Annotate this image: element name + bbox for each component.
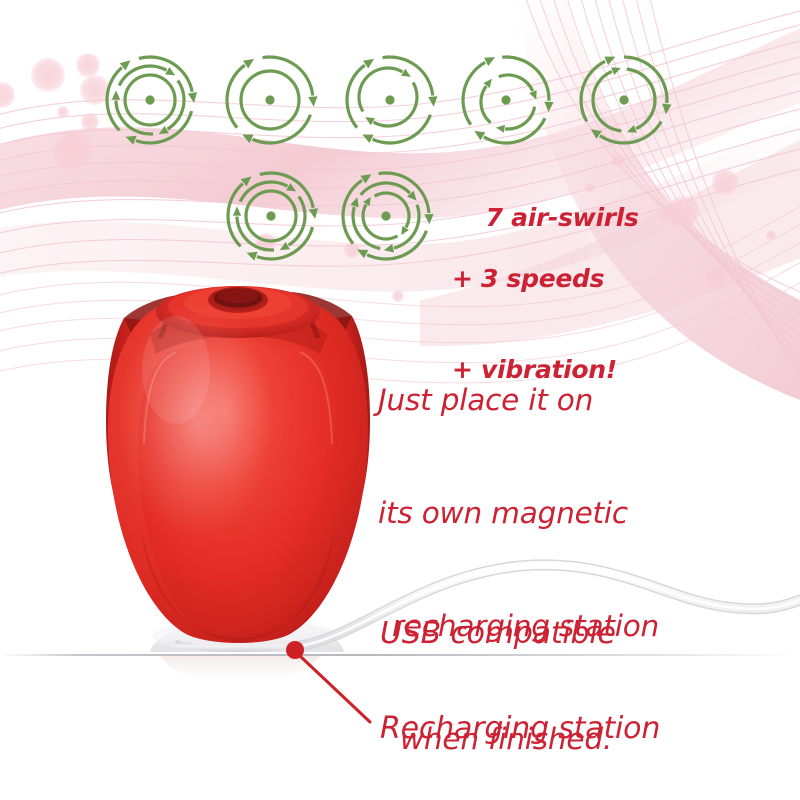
product-feature-image: 7 air-swirls + 3 speeds + vibration! Jus…: [0, 0, 800, 800]
usb-compatible-label: USB compatible: [380, 617, 616, 651]
feature-line-2: + 3 speeds: [452, 264, 639, 295]
feature-line-1: 7 air-swirls: [486, 203, 639, 232]
callout-leader-line: [300, 656, 370, 722]
headline-line-1: Just place it on: [378, 382, 683, 420]
recharging-station-label: Recharging station: [380, 712, 660, 746]
headline-line-2: its own magnetic: [378, 495, 683, 533]
recharging-station-callout-dot: [286, 641, 304, 659]
